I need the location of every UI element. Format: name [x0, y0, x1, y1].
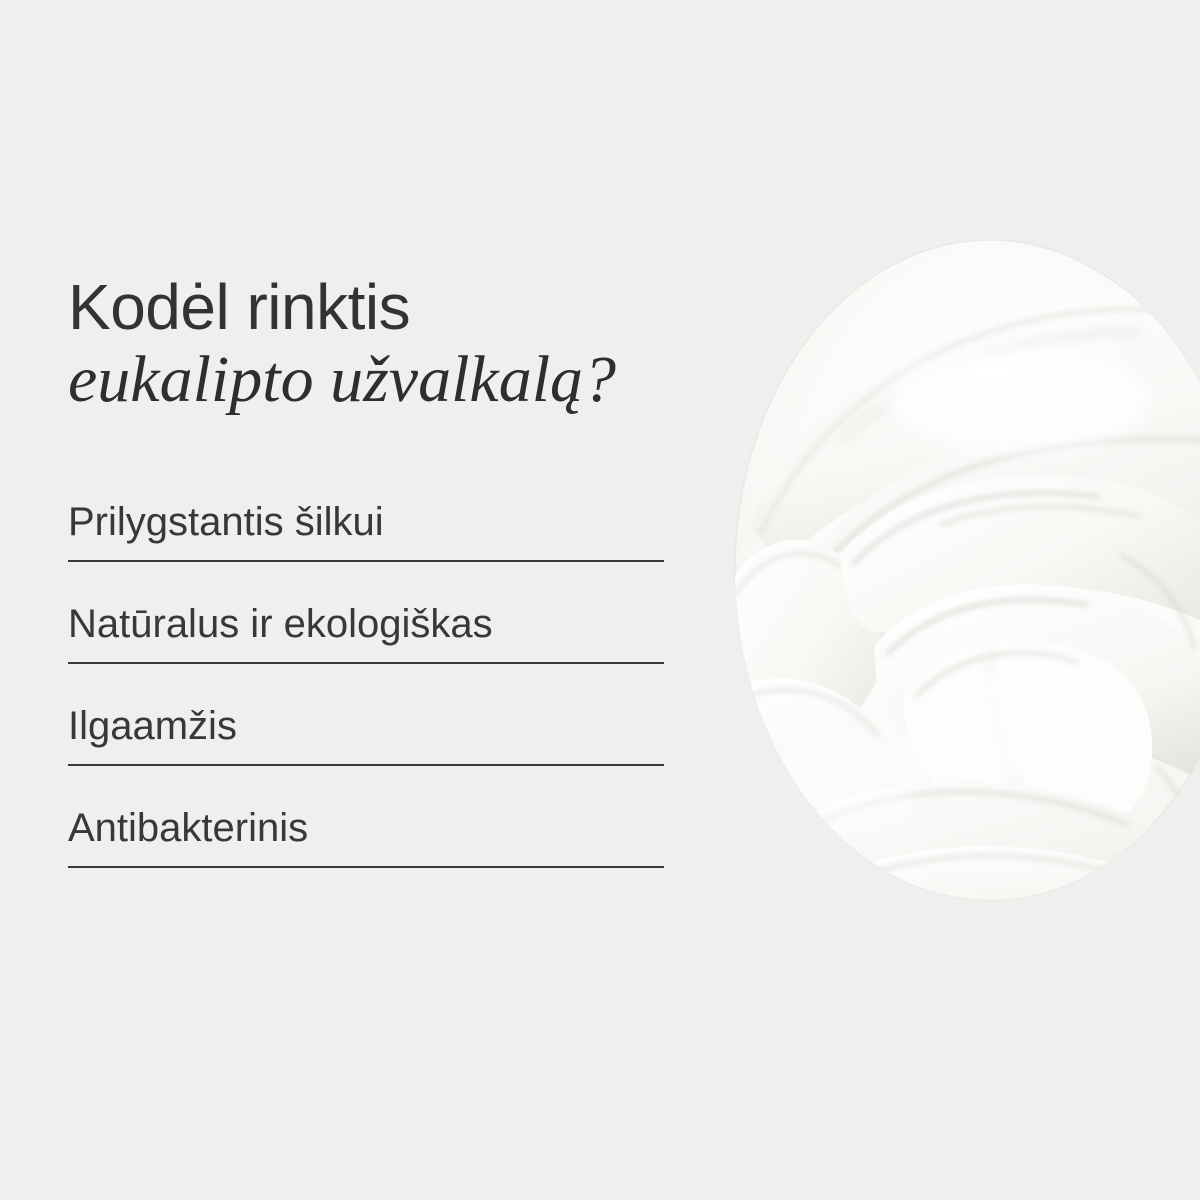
- page-title: Kodėl rinktis eukalipto užvalkalą?: [68, 270, 668, 418]
- list-item: Prilygstantis šilkui: [68, 498, 664, 562]
- text-column: Kodėl rinktis eukalipto užvalkalą? Prily…: [68, 270, 668, 418]
- feature-label: Prilygstantis šilkui: [68, 498, 664, 546]
- list-item: Antibakterinis: [68, 804, 664, 868]
- list-item: Natūralus ir ekologiškas: [68, 600, 664, 664]
- feature-label: Antibakterinis: [68, 804, 664, 852]
- headline-line-1: Kodėl rinktis: [68, 270, 668, 344]
- feature-list: Prilygstantis šilkui Natūralus ir ekolog…: [68, 498, 664, 868]
- feature-label: Ilgaamžis: [68, 702, 664, 750]
- promo-poster: Kodėl rinktis eukalipto užvalkalą? Prily…: [0, 0, 1200, 1200]
- headline-line-2: eukalipto užvalkalą?: [68, 342, 668, 418]
- list-item: Ilgaamžis: [68, 702, 664, 766]
- feature-label: Natūralus ir ekologiškas: [68, 600, 664, 648]
- rolled-duvet-image: [690, 225, 1200, 925]
